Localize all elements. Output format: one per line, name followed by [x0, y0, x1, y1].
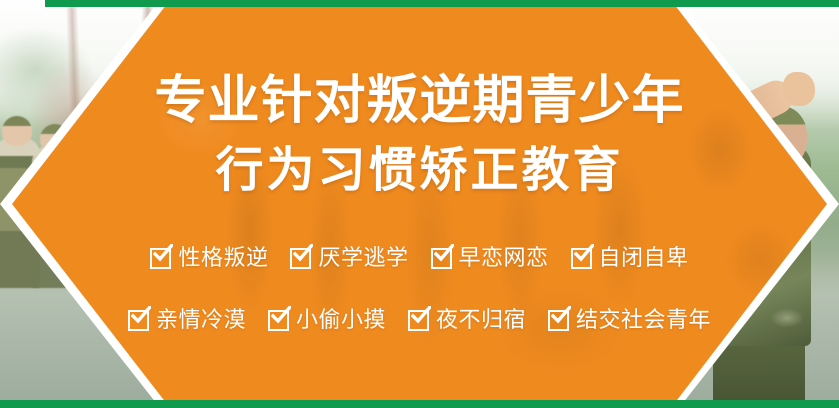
checklist-item: 小偷小摸: [268, 309, 386, 331]
checkbox-checked-icon: [431, 248, 452, 269]
checklist-item: 结交社会青年: [548, 309, 711, 331]
bottom-green-bar: [0, 400, 839, 408]
checklist-row-2: 亲情冷漠 小偷小摸 夜不归宿: [0, 302, 839, 338]
checklist-item-label: 亲情冷漠: [156, 309, 246, 331]
checkbox-checked-icon: [268, 310, 289, 331]
checkbox-checked-icon: [290, 248, 311, 269]
headline-line-2: 行为习惯矫正教育: [0, 136, 839, 206]
checkbox-checked-icon: [408, 310, 429, 331]
checklist-item-label: 早恋网恋: [459, 247, 549, 269]
checklist-row-1: 性格叛逆 厌学逃学 早恋网恋: [0, 240, 839, 276]
banner-content: 专业针对叛逆期青少年 行为习惯矫正教育 性格叛逆 厌学逃学: [0, 0, 839, 408]
checkbox-checked-icon: [548, 310, 569, 331]
checklist-item-label: 结交社会青年: [576, 309, 711, 331]
checklist-item-label: 性格叛逆: [178, 247, 268, 269]
checklist-item: 夜不归宿: [408, 309, 526, 331]
checklist-item-label: 厌学逃学: [318, 247, 408, 269]
headline-block: 专业针对叛逆期青少年 行为习惯矫正教育: [0, 66, 839, 206]
top-green-bar: [45, 0, 839, 7]
feature-checklist: 性格叛逆 厌学逃学 早恋网恋: [0, 240, 839, 338]
checklist-item: 性格叛逆: [150, 247, 268, 269]
checkbox-checked-icon: [150, 248, 171, 269]
promo-banner: 专业针对叛逆期青少年 行为习惯矫正教育 性格叛逆 厌学逃学: [0, 0, 839, 408]
checkbox-checked-icon: [571, 248, 592, 269]
checklist-item-label: 夜不归宿: [436, 309, 526, 331]
checklist-item: 早恋网恋: [431, 247, 549, 269]
checklist-item: 厌学逃学: [290, 247, 408, 269]
headline-line-1: 专业针对叛逆期青少年: [0, 66, 839, 136]
checklist-item-label: 自闭自卑: [599, 247, 689, 269]
checklist-item: 亲情冷漠: [128, 309, 246, 331]
checklist-item: 自闭自卑: [571, 247, 689, 269]
checkbox-checked-icon: [128, 310, 149, 331]
checklist-item-label: 小偷小摸: [296, 309, 386, 331]
